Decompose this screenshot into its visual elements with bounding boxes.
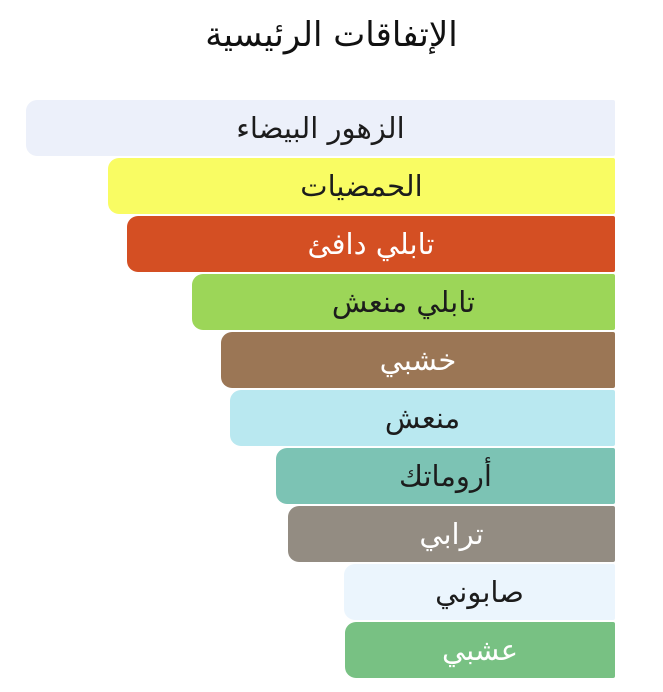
bar-shape (276, 448, 615, 504)
bar-row[interactable]: تابلي دافئ (127, 216, 615, 272)
bar-row[interactable]: خشبي (221, 332, 615, 388)
bar-shape (230, 390, 615, 446)
bar-row[interactable]: منعش (230, 390, 615, 446)
bar-shape (127, 216, 615, 272)
bar-row[interactable]: أروماتك (276, 448, 615, 504)
bar-shape (26, 100, 615, 156)
bar-shape (108, 158, 615, 214)
bar-shape (288, 506, 615, 562)
bar-row[interactable]: ترابي (288, 506, 615, 562)
bar-row[interactable]: عشبي (345, 622, 615, 678)
bar-shape (192, 274, 615, 330)
bar-shape (344, 564, 615, 620)
bar-row[interactable]: الزهور البيضاء (26, 100, 615, 156)
bar-shape (345, 622, 615, 678)
bar-shape (221, 332, 615, 388)
bar-row[interactable]: صابوني (344, 564, 615, 620)
bars-area: الزهور البيضاءالحمضياتتابلي دافئتابلي من… (0, 0, 663, 692)
bar-row[interactable]: تابلي منعش (192, 274, 615, 330)
bar-chart: الإتفاقات الرئيسية الزهور البيضاءالحمضيا… (0, 0, 663, 692)
bar-row[interactable]: الحمضيات (108, 158, 615, 214)
